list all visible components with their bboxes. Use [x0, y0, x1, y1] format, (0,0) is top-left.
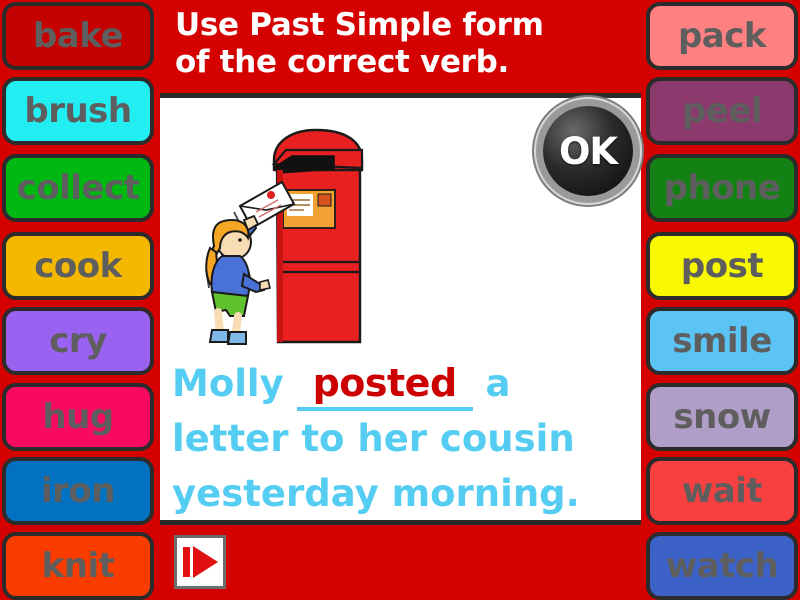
word-button-snow[interactable]: snow — [646, 383, 798, 451]
word-button-pack[interactable]: pack — [646, 2, 798, 70]
word-button-cry[interactable]: cry — [2, 307, 154, 375]
left-word-column: bakebrushcollectcookcryhugironknit — [0, 0, 160, 600]
word-button-iron[interactable]: iron — [2, 457, 154, 525]
word-button-hug[interactable]: hug — [2, 383, 154, 451]
word-button-label: post — [681, 249, 763, 283]
word-button-cook[interactable]: cook — [2, 232, 154, 300]
exercise-screen: Use Past Simple form of the correct verb… — [0, 0, 800, 600]
postbox-illustration — [182, 120, 382, 350]
word-button-label: smile — [672, 324, 772, 358]
word-button-label: cook — [34, 249, 121, 283]
word-button-label: pack — [678, 19, 766, 53]
word-button-label: knit — [42, 549, 115, 583]
answer-blank[interactable]: posted — [297, 360, 473, 411]
word-button-label: bake — [33, 19, 123, 53]
ok-button-label: OK — [559, 130, 617, 173]
word-button-label: wait — [682, 474, 762, 508]
right-word-column: packpeelphonepostsmilesnowwaitwatch — [640, 0, 800, 600]
word-button-label: collect — [17, 171, 140, 205]
word-button-bake[interactable]: bake — [2, 2, 154, 70]
word-button-label: hug — [42, 400, 113, 434]
sentence-prompt: Molly posted a letter to her cousin yest… — [172, 356, 630, 521]
word-button-phone[interactable]: phone — [646, 154, 798, 222]
instruction-line-1: Use Past Simple form — [175, 7, 630, 44]
instruction-line-2: of the correct verb. — [175, 44, 630, 81]
word-button-label: cry — [49, 324, 107, 358]
word-button-label: watch — [666, 549, 778, 583]
word-button-post[interactable]: post — [646, 232, 798, 300]
word-button-label: peel — [682, 94, 762, 128]
word-button-smile[interactable]: smile — [646, 307, 798, 375]
word-button-label: brush — [24, 94, 131, 128]
next-bar-icon — [183, 547, 190, 577]
sentence-after-inline: a — [486, 362, 511, 405]
word-button-watch[interactable]: watch — [646, 532, 798, 600]
answer-text: posted — [313, 361, 457, 405]
word-button-peel[interactable]: peel — [646, 77, 798, 145]
word-button-label: phone — [664, 171, 781, 205]
instruction-header: Use Past Simple form of the correct verb… — [163, 2, 638, 93]
word-button-knit[interactable]: knit — [2, 532, 154, 600]
sentence-line-2: letter to her cousin — [172, 411, 630, 466]
next-button[interactable] — [174, 535, 226, 589]
word-button-label: iron — [41, 474, 115, 508]
word-button-wait[interactable]: wait — [646, 457, 798, 525]
sentence-line-3: yesterday morning. — [172, 466, 630, 521]
word-button-brush[interactable]: brush — [2, 77, 154, 145]
ok-button[interactable]: OK — [543, 106, 633, 196]
play-triangle-icon — [193, 546, 218, 578]
sentence-before: Molly — [172, 362, 284, 405]
word-button-collect[interactable]: collect — [2, 154, 154, 222]
word-button-label: snow — [673, 400, 770, 434]
